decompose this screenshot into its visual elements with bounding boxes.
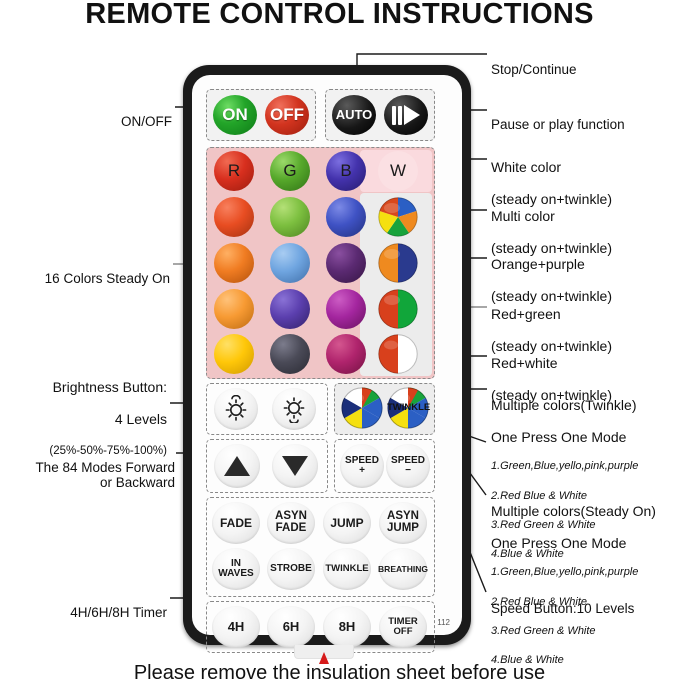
- annotation-red-white-line1: Red+white: [491, 355, 612, 371]
- mode-up-icon: [224, 456, 250, 476]
- multi-color-wheel-icon: [378, 197, 418, 237]
- annotation-pause-play: Pause or play function: [491, 101, 625, 132]
- off-button[interactable]: OFF: [265, 95, 309, 135]
- remote-faceplate: ON OFF AUTO R G B W: [192, 75, 462, 635]
- play-pause-button[interactable]: [384, 95, 428, 135]
- color-button-r2c2[interactable]: [270, 197, 310, 237]
- annotation-sixteen-colors-text: 16 Colors Steady On: [45, 271, 170, 286]
- annotation-mct-line2: One Press One Mode: [491, 429, 638, 445]
- auto-label: AUTO: [336, 108, 373, 121]
- timer-button-6h[interactable]: 6H: [267, 606, 315, 648]
- mode-button-fade[interactable]: FADE: [212, 502, 260, 544]
- annotation-red-green-line1: Red+green: [491, 306, 612, 322]
- speed-plus-button[interactable]: SPEED +: [340, 444, 384, 488]
- red-white-wheel-button[interactable]: [378, 334, 418, 374]
- mode-button-asyn-jump[interactable]: ASYN JUMP: [379, 502, 427, 544]
- color-button-r5c1[interactable]: [214, 334, 254, 374]
- color-button-white-main[interactable]: W: [378, 151, 418, 191]
- annotation-mcs-line1: Multiple colors(Steady On): [491, 503, 656, 519]
- w-label: W: [390, 162, 406, 179]
- color-button-r4c2[interactable]: [270, 289, 310, 329]
- orange-purple-wheel-button[interactable]: [378, 243, 418, 283]
- mode-button-twinkle[interactable]: TWINKLE: [323, 548, 371, 590]
- mode-down-button[interactable]: [272, 444, 318, 488]
- b-label: B: [340, 162, 351, 179]
- mode-button-asyn-fade[interactable]: ASYN FADE: [267, 502, 315, 544]
- color-button-green-main[interactable]: G: [270, 151, 310, 191]
- annotation-timer-text: 4H/6H/8H Timer: [70, 605, 167, 620]
- annotation-brightness-line1: Brightness Button:: [0, 379, 167, 395]
- timer-button-off[interactable]: TIMER OFF: [379, 606, 427, 648]
- annotation-white-color-line1: White color: [491, 159, 612, 175]
- color-button-red-main[interactable]: R: [214, 151, 254, 191]
- annotation-speed-button-text: Speed Button:10 Levels: [491, 601, 634, 616]
- annotation-stop-continue: Stop/Continue: [491, 46, 577, 77]
- color-button-r5c2[interactable]: [270, 334, 310, 374]
- brightness-down-icon: [280, 395, 308, 423]
- twinkle-wheel-right-button[interactable]: TWINKLE: [387, 387, 429, 429]
- brightness-down-button[interactable]: [272, 388, 316, 430]
- annotation-orange-purple-line1: Orange+purple: [491, 256, 612, 272]
- mode-button-strobe[interactable]: STROBE: [267, 548, 315, 590]
- annotation-timer: 4H/6H/8H Timer: [0, 589, 167, 620]
- annotation-on-off: ON/OFF: [0, 98, 172, 129]
- annotation-mct-item-1: 1.Green,Blue,yello,pink,purple: [491, 460, 638, 473]
- twinkle-wheel-label: TWINKLE: [387, 403, 429, 413]
- annotation-mcs-line2: One Press One Mode: [491, 535, 656, 551]
- mode-up-button[interactable]: [214, 444, 260, 488]
- page-title: REMOTE CONTROL INSTRUCTIONS: [0, 0, 679, 31]
- annotation-sixteen-colors: 16 Colors Steady On: [0, 255, 170, 286]
- mode-button-jump[interactable]: JUMP: [323, 502, 371, 544]
- annotation-mcs-item-1: 1.Green,Blue,yello,pink,purple: [491, 566, 656, 579]
- color-button-r3c2[interactable]: [270, 243, 310, 283]
- color-button-r3c3[interactable]: [326, 243, 366, 283]
- speed-minus-bottom-label: −: [405, 466, 411, 476]
- timer-button-4h[interactable]: 4H: [212, 606, 260, 648]
- twinkle-wheel-left-icon: [341, 387, 383, 429]
- remote-control-body: ON OFF AUTO R G B W: [183, 65, 471, 645]
- annotation-mcs-item-3: 3.Red Green & White: [491, 625, 656, 638]
- annotation-speed-button: Speed Button:10 Levels: [491, 585, 634, 616]
- timer-button-8h[interactable]: 8H: [323, 606, 371, 648]
- brightness-up-icon: [222, 395, 250, 423]
- color-button-r2c1[interactable]: [214, 197, 254, 237]
- annotation-stop-continue-text: Stop/Continue: [491, 62, 577, 77]
- twinkle-wheel-left-button[interactable]: [341, 387, 383, 429]
- multi-color-wheel-button[interactable]: [378, 197, 418, 237]
- red-green-wheel-button[interactable]: [378, 289, 418, 329]
- speed-minus-button[interactable]: SPEED −: [386, 444, 430, 488]
- annotation-brightness-line2: 4 Levels: [0, 411, 167, 427]
- color-button-blue-main[interactable]: B: [326, 151, 366, 191]
- bottom-caption: Please remove the insulation sheet befor…: [0, 662, 679, 685]
- mode-button-breathing[interactable]: BREATHING: [379, 548, 427, 590]
- model-number: 112: [437, 618, 450, 627]
- mode-down-icon: [282, 456, 308, 476]
- orange-purple-wheel-icon: [378, 243, 418, 283]
- color-button-r4c3[interactable]: [326, 289, 366, 329]
- color-button-r5c3[interactable]: [326, 334, 366, 374]
- annotation-modes-forward-backward: The 84 Modes Forward or Backward: [0, 444, 175, 491]
- on-label: ON: [222, 106, 248, 123]
- annotation-modes-text: The 84 Modes Forward or Backward: [35, 460, 175, 491]
- red-green-wheel-icon: [378, 289, 418, 329]
- annotation-on-off-text: ON/OFF: [121, 114, 172, 129]
- color-button-r3c1[interactable]: [214, 243, 254, 283]
- speed-plus-bottom-label: +: [359, 466, 365, 476]
- g-label: G: [283, 162, 296, 179]
- brightness-up-button[interactable]: [214, 388, 258, 430]
- r-label: R: [228, 162, 240, 179]
- auto-button[interactable]: AUTO: [332, 95, 376, 135]
- on-button[interactable]: ON: [213, 95, 257, 135]
- annotation-multi-color-line1: Multi color: [491, 208, 612, 224]
- color-button-r2c3[interactable]: [326, 197, 366, 237]
- annotation-mct-line1: Multiple colors(Twinkle): [491, 397, 638, 413]
- red-white-wheel-icon: [378, 334, 418, 374]
- play-pause-icon: [392, 105, 420, 125]
- mode-button-in-waves[interactable]: IN WAVES: [212, 548, 260, 590]
- color-button-r4c1[interactable]: [214, 289, 254, 329]
- off-label: OFF: [270, 106, 304, 123]
- annotation-pause-play-text: Pause or play function: [491, 117, 625, 132]
